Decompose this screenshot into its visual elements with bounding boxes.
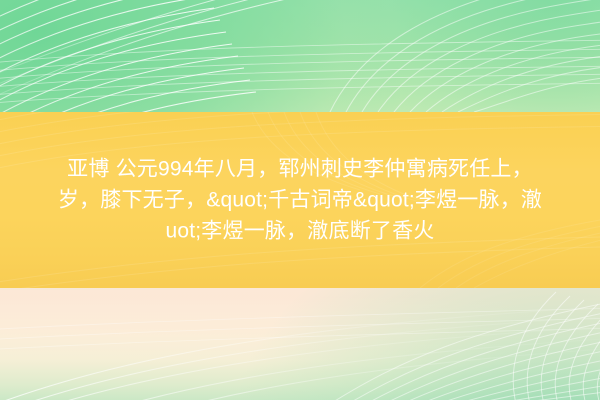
yellow-caption-band: 亚博 公元994年八月，郓州刺史李仲寓病死任上， 岁，膝下无子，&quot;千古… xyxy=(0,112,600,288)
caption-line-2: 岁，膝下无子，&quot;千古词帝&quot;李煜一脉，澈 xyxy=(0,185,600,216)
caption-line-3: uot;李煜一脉，澈底断了香火 xyxy=(0,216,600,247)
caption-line-1: 亚博 公元994年八月，郓州刺史李仲寓病死任上， xyxy=(0,154,600,185)
banner-image: 亚博 公元994年八月，郓州刺史李仲寓病死任上， 岁，膝下无子，&quot;千古… xyxy=(0,0,600,400)
caption-text: 亚博 公元994年八月，郓州刺史李仲寓病死任上， 岁，膝下无子，&quot;千古… xyxy=(0,154,600,247)
